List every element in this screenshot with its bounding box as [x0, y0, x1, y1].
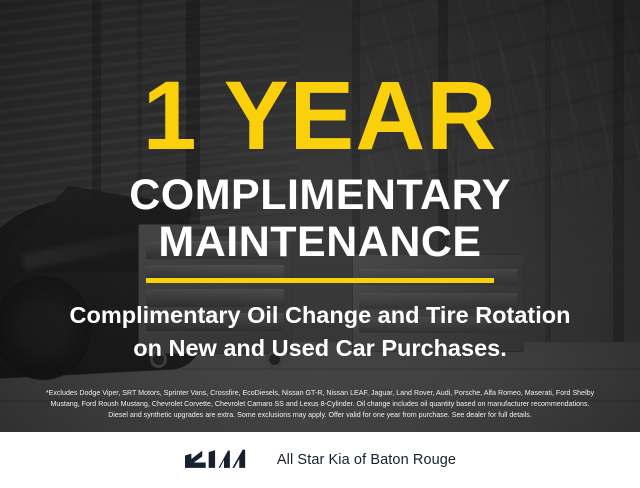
disclaimer-line-3: Diesel and synthetic upgrades are extra.… — [12, 410, 628, 421]
disclaimer-line-1: *Excludes Dodge Viper, SRT Motors, Sprin… — [12, 388, 628, 399]
headline-maintenance: MAINTENANCE — [158, 220, 481, 264]
yellow-divider — [146, 278, 494, 283]
promotional-banner: 1 YEAR COMPLIMENTARY MAINTENANCE Complim… — [0, 0, 640, 488]
headline-complimentary: COMPLIMENTARY — [129, 173, 511, 217]
dealer-name: All Star Kia of Baton Rouge — [277, 452, 456, 468]
offer-line-1: Complimentary Oil Change and Tire Rotati… — [70, 300, 571, 331]
offer-line-2: on New and Used Car Purchases. — [133, 333, 507, 364]
dealer-footer-bar: All Star Kia of Baton Rouge — [0, 432, 640, 488]
banner-content: 1 YEAR COMPLIMENTARY MAINTENANCE Complim… — [0, 0, 640, 432]
headline-year: 1 YEAR — [143, 74, 498, 157]
disclaimer-line-2: Mustang, Ford Roush Mustang, Chevrolet C… — [12, 399, 628, 410]
kia-logo — [184, 448, 258, 472]
